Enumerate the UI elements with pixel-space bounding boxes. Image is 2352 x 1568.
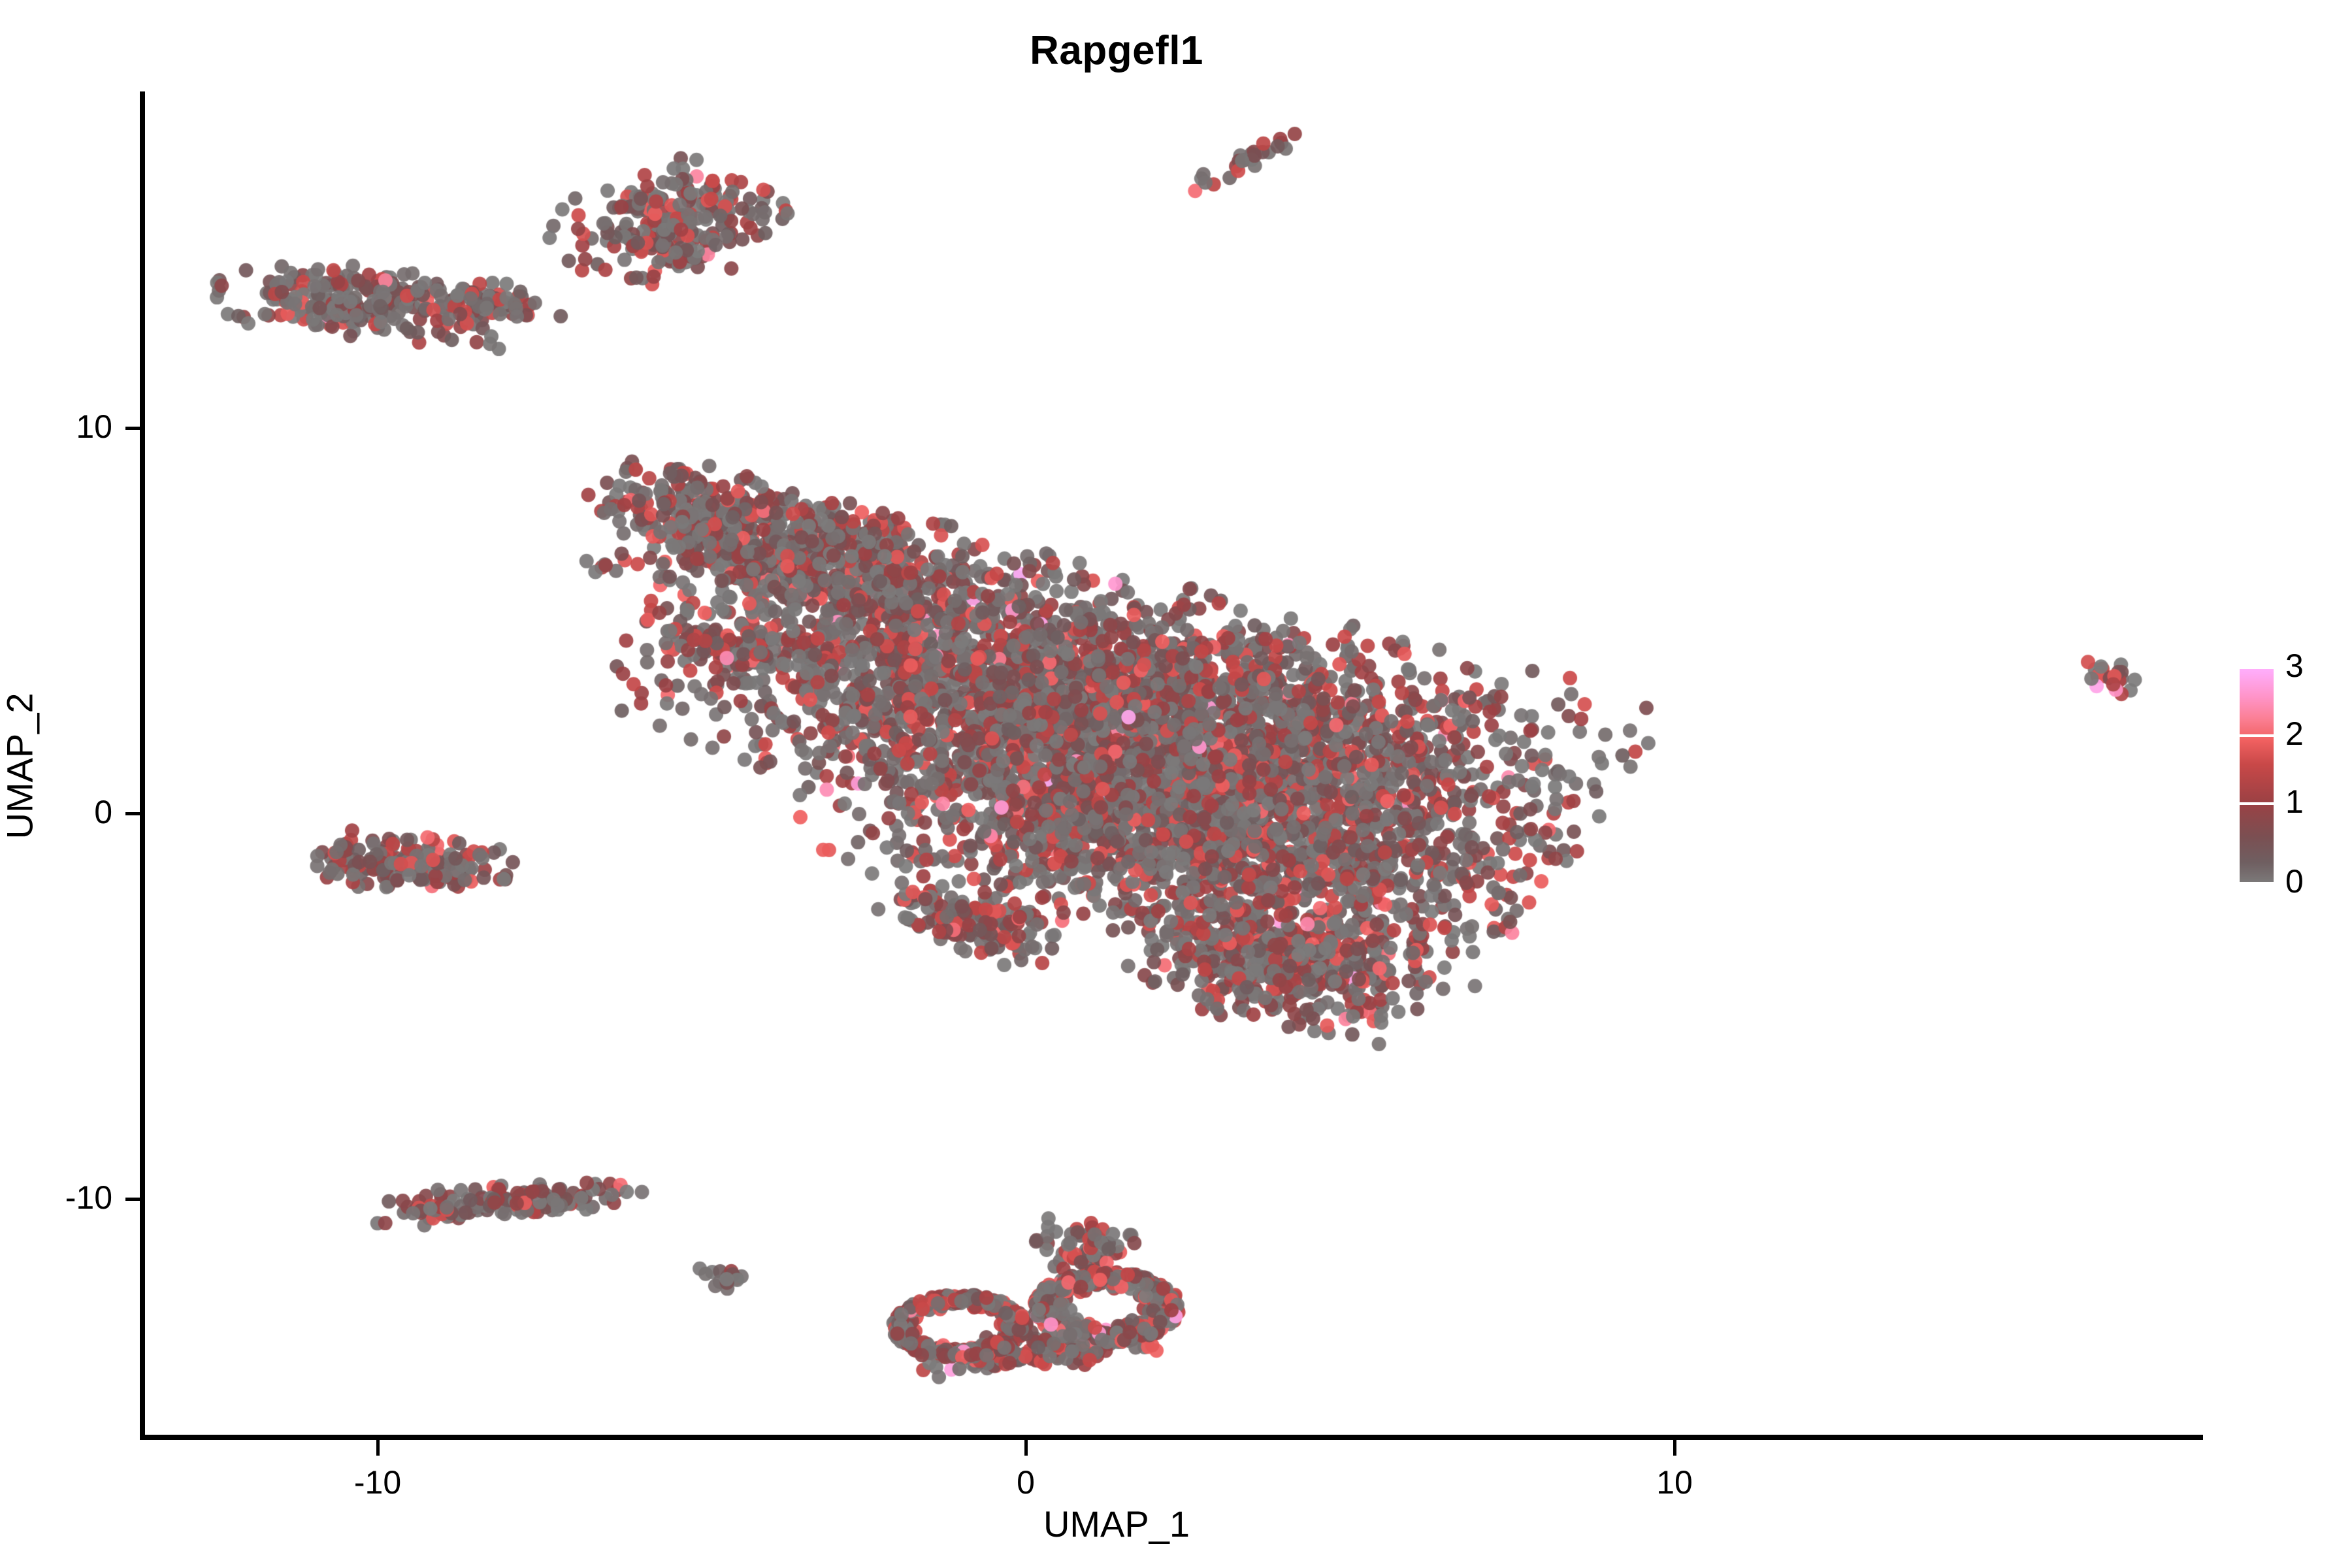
x-tick-label-neg10: -10 [312, 1466, 443, 1499]
x-tick-mark-neg10 [376, 1440, 380, 1456]
legend-tick-0 [2240, 882, 2274, 885]
umap-feature-plot: Rapgefl1 10 0 -10 -10 0 10 UMAP_1 UMAP_2… [0, 0, 2352, 1568]
y-tick-mark-0 [125, 812, 140, 815]
color-legend: 3 2 1 0 [2240, 661, 2344, 896]
y-axis-title: UMAP_2 [0, 374, 41, 1158]
legend-colorbar [2240, 666, 2274, 885]
legend-label-1: 1 [2285, 785, 2344, 818]
x-tick-label-0: 0 [960, 1466, 1091, 1499]
x-tick-label-10: 10 [1609, 1466, 1740, 1499]
y-axis-line [140, 91, 145, 1440]
legend-tick-2 [2240, 734, 2274, 737]
legend-label-0: 0 [2285, 865, 2344, 898]
y-tick-mark-10 [125, 427, 140, 430]
x-tick-mark-10 [1673, 1440, 1676, 1456]
page-title: Rapgefl1 [0, 27, 2233, 74]
legend-label-2: 2 [2285, 717, 2344, 750]
legend-tick-3 [2240, 666, 2274, 669]
y-tick-label-neg10: -10 [14, 1181, 112, 1214]
y-tick-mark-neg10 [125, 1198, 140, 1201]
plot-panel [144, 91, 2203, 1439]
legend-label-3: 3 [2285, 649, 2344, 682]
x-axis-title: UMAP_1 [0, 1503, 2233, 1545]
x-axis-line [140, 1435, 2203, 1440]
x-tick-mark-0 [1024, 1440, 1028, 1456]
scatter-plot-canvas [144, 91, 2203, 1439]
legend-tick-1 [2240, 802, 2274, 805]
